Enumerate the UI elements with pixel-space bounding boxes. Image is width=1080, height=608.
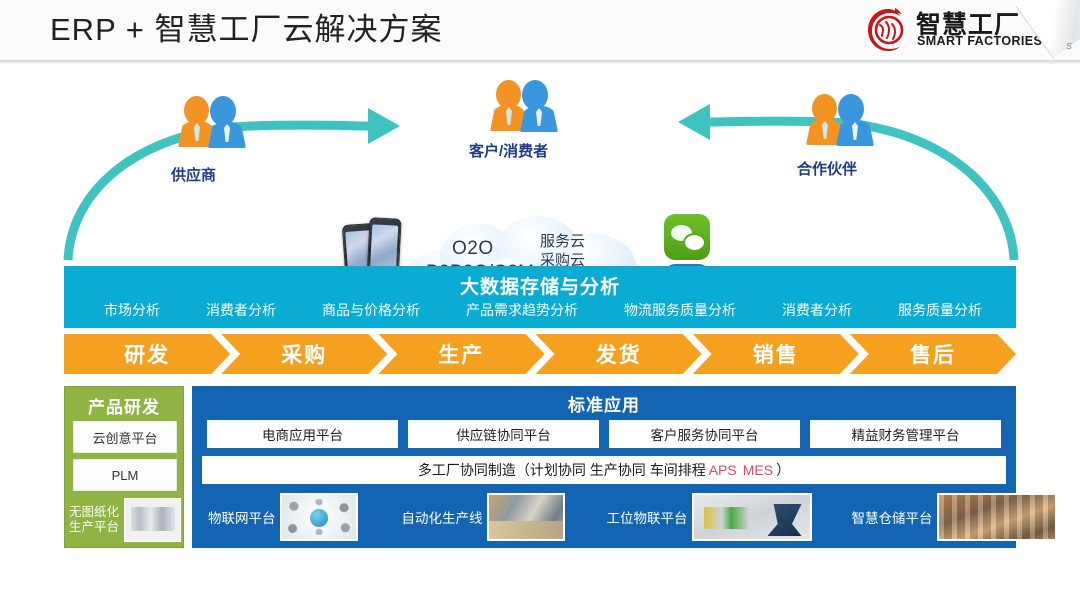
iot-network-photo [280, 493, 358, 541]
paperless-line1: 无图纸化 [69, 505, 124, 520]
process-flow-chevrons: 研发 采购 生产 发货 销售 售后 [64, 334, 1016, 374]
process-step-rnd[interactable]: 研发 [64, 334, 230, 374]
platform-customer-service[interactable]: 客户服务协同平台 [609, 420, 800, 448]
slide-root: ERP + 智慧工厂云解决方案 智慧工厂 ® SMART FACTORIES s [0, 0, 1080, 608]
bigdata-title: 大数据存储与分析 [64, 272, 1016, 299]
bigdata-item-list: 市场分析 消费者分析 商品与价格分析 产品需求趋势分析 物流服务质量分析 消费者… [104, 300, 982, 320]
thumb-label-iot: 物联网平台 [208, 507, 276, 527]
node-label-partner: 合作伙伴 [797, 158, 857, 179]
multi-factory-prefix: 多工厂协同制造（计划协同 生产协同 车间排程 [418, 460, 706, 480]
thumb-cell-workstation[interactable]: 工位物联平台 [607, 493, 812, 541]
cloud-text-service: 服务云 [540, 232, 585, 251]
page-title: ERP + 智慧工厂云解决方案 [50, 8, 443, 52]
bigdata-item: 商品与价格分析 [322, 300, 420, 320]
thumb-cell-warehouse[interactable]: 智慧仓储平台 [852, 493, 1057, 541]
platform-lean-finance[interactable]: 精益财务管理平台 [810, 420, 1001, 448]
customer-people-icon [494, 80, 558, 136]
rnd-item-paperless-label: 无图纸化 生产平台 [69, 505, 124, 535]
thumb-cell-iot[interactable]: 物联网平台 [208, 493, 358, 541]
product-rnd-panel: 产品研发 云创意平台 PLM 无图纸化 生产平台 [64, 386, 184, 548]
bigdata-item: 消费者分析 [782, 300, 852, 320]
thumb-label-warehouse: 智慧仓储平台 [852, 507, 933, 527]
workstation-iot-photo [692, 493, 812, 541]
rnd-item-plm[interactable]: PLM [73, 459, 177, 491]
supplier-people-icon [182, 96, 246, 152]
standard-apps-panel: 标准应用 电商应用平台 供应链协同平台 客户服务协同平台 精益财务管理平台 多工… [192, 386, 1016, 548]
bigdata-item: 服务质量分析 [898, 300, 982, 320]
bigdata-item: 消费者分析 [206, 300, 276, 320]
slide-header: ERP + 智慧工厂云解决方案 智慧工厂 ® SMART FACTORIES s [0, 0, 1080, 62]
bigdata-item: 市场分析 [104, 300, 160, 320]
thumb-cell-automation[interactable]: 自动化生产线 [402, 493, 565, 541]
thumb-label-workstation: 工位物联平台 [607, 507, 688, 527]
process-step-aftersale[interactable]: 售后 [850, 334, 1016, 374]
bigdata-band: 大数据存储与分析 市场分析 消费者分析 商品与价格分析 产品需求趋势分析 物流服… [64, 266, 1016, 328]
process-step-produce[interactable]: 生产 [378, 334, 544, 374]
automation-line-photo [487, 493, 565, 541]
process-step-ship[interactable]: 发货 [536, 334, 702, 374]
page-corner-fold [1016, 0, 1080, 64]
node-label-customer: 客户/消费者 [469, 140, 548, 161]
rnd-item-cloud-idea[interactable]: 云创意平台 [73, 421, 177, 453]
platform-thumbnail-row: 物联网平台 自动化生产线 工位物联平台 智慧仓储平台 [202, 492, 1008, 542]
process-step-sales[interactable]: 销售 [693, 334, 859, 374]
standard-apps-title: 标准应用 [192, 391, 1016, 416]
platform-ecommerce[interactable]: 电商应用平台 [207, 420, 398, 448]
multi-factory-row[interactable]: 多工厂协同制造（计划协同 生产协同 车间排程 APS MES ） [202, 456, 1006, 484]
rnd-panel-title: 产品研发 [65, 393, 183, 418]
cloud-text-o2o: O2O [452, 238, 494, 260]
node-label-supplier: 供应商 [171, 164, 216, 185]
paperless-line2: 生产平台 [69, 520, 124, 535]
ecosystem-diagram: 供应商 客户/消费者 合作伙伴 O2O B2B2C/C2M [0, 64, 1080, 262]
rnd-item-paperless[interactable]: 无图纸化 生产平台 [69, 497, 181, 543]
process-step-purchase[interactable]: 采购 [221, 334, 387, 374]
platform-supplychain[interactable]: 供应链协同平台 [408, 420, 599, 448]
thumb-label-automation: 自动化生产线 [402, 507, 483, 527]
platform-box-row: 电商应用平台 供应链协同平台 客户服务协同平台 精益财务管理平台 [202, 420, 1006, 448]
multi-factory-suffix: ） [776, 460, 790, 480]
bigdata-item: 物流服务质量分析 [624, 300, 736, 320]
smart-factories-emblem-icon [864, 6, 912, 54]
corner-mark-text: s [1067, 40, 1073, 52]
paperless-thumbnail-image [124, 498, 181, 542]
mes-tag: MES [740, 462, 776, 478]
bigdata-item: 产品需求趋势分析 [466, 300, 578, 320]
aps-tag: APS [706, 462, 740, 478]
wechat-icon[interactable] [664, 214, 710, 260]
partner-people-icon [810, 94, 874, 150]
smart-warehouse-photo [937, 493, 1057, 541]
